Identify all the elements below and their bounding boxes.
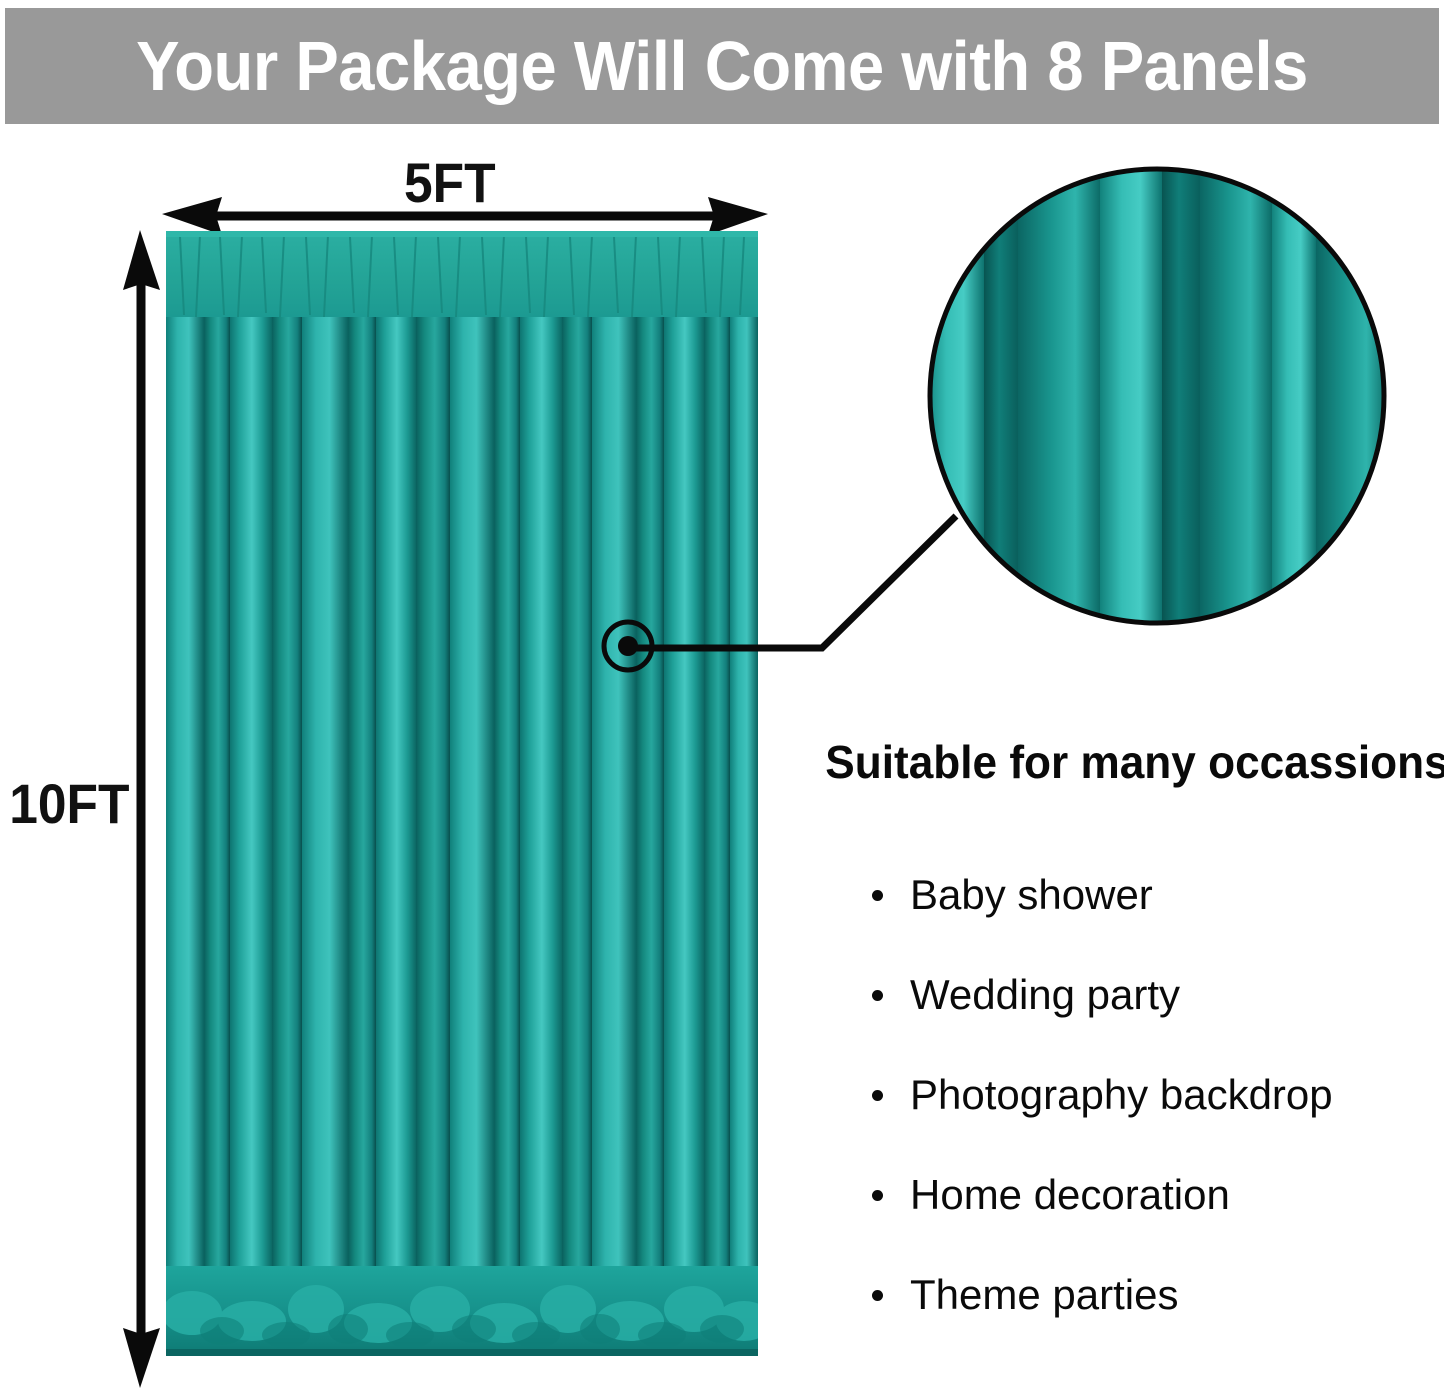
bullet-icon bbox=[872, 890, 883, 901]
height-dimension-arrow bbox=[118, 228, 164, 1390]
occasions-list: Baby shower Wedding party Photography ba… bbox=[866, 845, 1426, 1345]
list-item: Baby shower bbox=[866, 845, 1426, 945]
fabric-closeup-circle bbox=[926, 165, 1388, 627]
list-item-label: Baby shower bbox=[866, 874, 1153, 916]
bullet-icon bbox=[872, 1190, 883, 1201]
occasions-heading: Suitable for many occassions: bbox=[825, 735, 1444, 789]
list-item-label: Theme parties bbox=[866, 1274, 1178, 1316]
curtain-panel-image bbox=[166, 231, 758, 1356]
header-banner: Your Package Will Come with 8 Panels bbox=[5, 8, 1439, 124]
bullet-icon bbox=[872, 990, 883, 1001]
bullet-icon bbox=[872, 1290, 883, 1301]
list-item: Wedding party bbox=[866, 945, 1426, 1045]
list-item-label: Wedding party bbox=[866, 974, 1180, 1016]
list-item: Home decoration bbox=[866, 1145, 1426, 1245]
list-item-label: Home decoration bbox=[866, 1174, 1230, 1216]
list-item: Photography backdrop bbox=[866, 1045, 1426, 1145]
bullet-icon bbox=[872, 1090, 883, 1101]
page-title: Your Package Will Come with 8 Panels bbox=[136, 31, 1308, 101]
height-dimension-label: 10FT bbox=[9, 776, 129, 832]
list-item-label: Photography backdrop bbox=[866, 1074, 1333, 1116]
fabric-detail-target bbox=[600, 618, 656, 674]
list-item: Theme parties bbox=[866, 1245, 1426, 1345]
